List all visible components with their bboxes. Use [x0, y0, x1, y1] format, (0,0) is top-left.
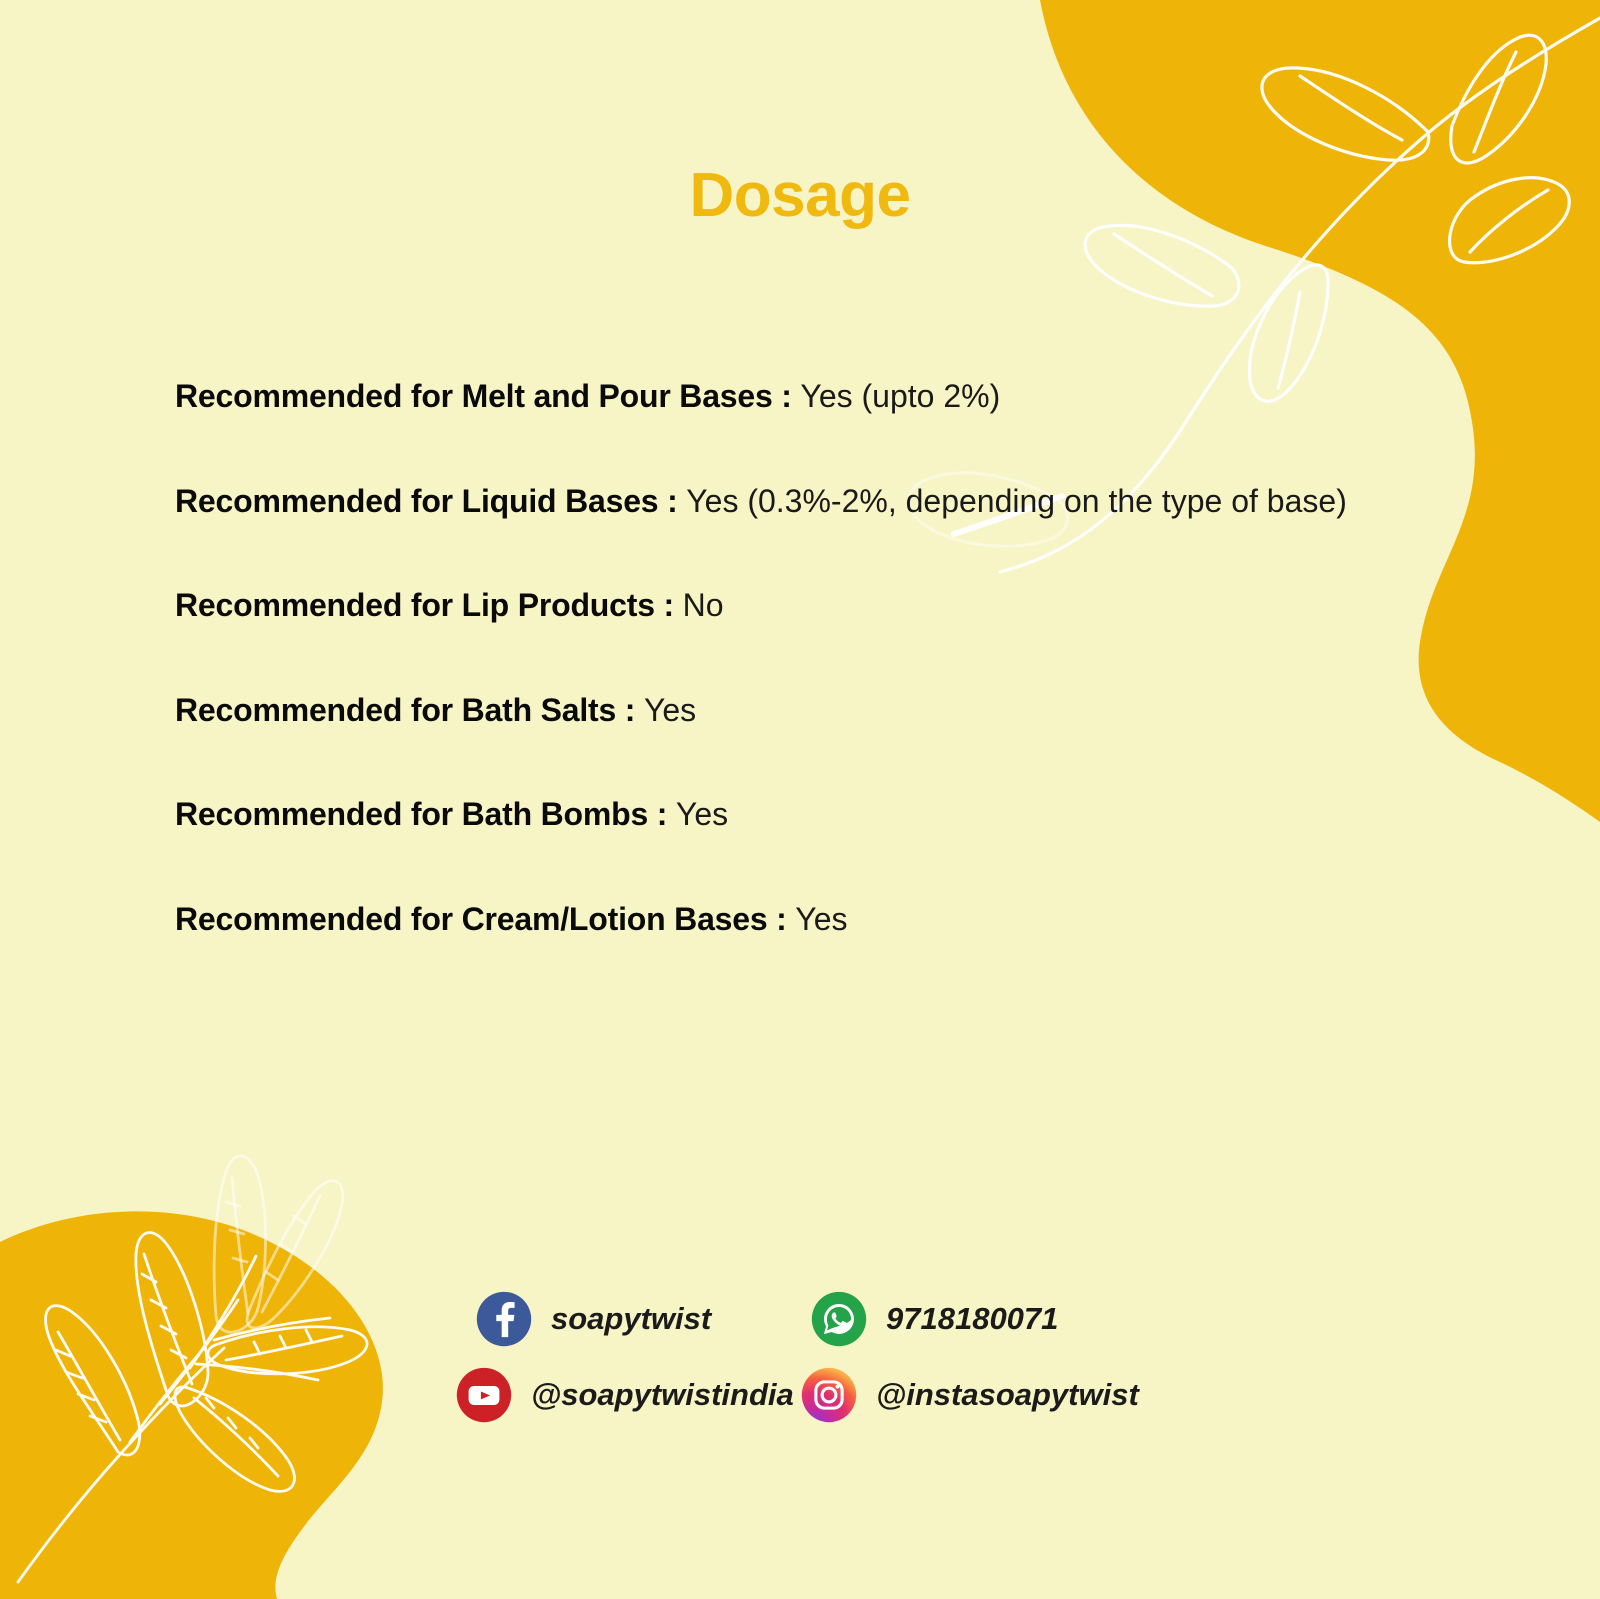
dosage-list: Recommended for Melt and Pour Bases : Ye… — [175, 372, 1445, 945]
dosage-row-lip-products: Recommended for Lip Products : No — [175, 581, 1445, 631]
dosage-label: Recommended for Melt and Pour Bases : — [175, 378, 800, 414]
instagram-handle: @instasoapytwist — [876, 1377, 1139, 1413]
whatsapp-handle: 9718180071 — [886, 1301, 1058, 1337]
dosage-value: Yes — [676, 796, 728, 832]
dosage-label: Recommended for Cream/Lotion Bases : — [175, 901, 795, 937]
page-title: Dosage — [690, 161, 911, 230]
dosage-label: Recommended for Bath Bombs : — [175, 796, 676, 832]
facebook-handle: soapytwist — [551, 1301, 711, 1337]
social-row-1: soapytwist 9718180071 — [455, 1290, 1255, 1348]
social-row-2: @soapytwistindia — [455, 1366, 1255, 1424]
page-title-wrap: Dosage — [0, 160, 1600, 231]
dosage-row-cream-lotion-bases: Recommended for Cream/Lotion Bases : Yes — [175, 895, 1445, 945]
social-footer: soapytwist 9718180071 @soapy — [455, 1290, 1255, 1424]
bottom-left-blob — [0, 1211, 383, 1599]
facebook-icon — [475, 1290, 533, 1348]
social-link-youtube[interactable]: @soapytwistindia — [455, 1366, 800, 1424]
dosage-value: Yes (0.3%-2%, depending on the type of b… — [686, 483, 1347, 519]
social-link-instagram[interactable]: @instasoapytwist — [800, 1366, 1139, 1424]
dosage-row-liquid-bases: Recommended for Liquid Bases : Yes (0.3%… — [175, 477, 1445, 527]
dosage-value: Yes — [795, 901, 847, 937]
instagram-icon — [800, 1366, 858, 1424]
dosage-value: Yes (upto 2%) — [800, 378, 1000, 414]
youtube-handle: @soapytwistindia — [531, 1377, 794, 1413]
youtube-icon — [455, 1366, 513, 1424]
dosage-row-bath-bombs: Recommended for Bath Bombs : Yes — [175, 790, 1445, 840]
dosage-row-bath-salts: Recommended for Bath Salts : Yes — [175, 686, 1445, 736]
dosage-label: Recommended for Bath Salts : — [175, 692, 644, 728]
dosage-value: No — [683, 587, 724, 623]
dosage-label: Recommended for Liquid Bases : — [175, 483, 686, 519]
bottom-left-leaf-branch — [18, 1156, 367, 1582]
dosage-value: Yes — [644, 692, 696, 728]
dosage-label: Recommended for Lip Products : — [175, 587, 683, 623]
social-link-facebook[interactable]: soapytwist — [455, 1290, 800, 1348]
dosage-row-melt-and-pour: Recommended for Melt and Pour Bases : Ye… — [175, 372, 1445, 422]
social-link-whatsapp[interactable]: 9718180071 — [800, 1290, 1058, 1348]
whatsapp-icon — [810, 1290, 868, 1348]
